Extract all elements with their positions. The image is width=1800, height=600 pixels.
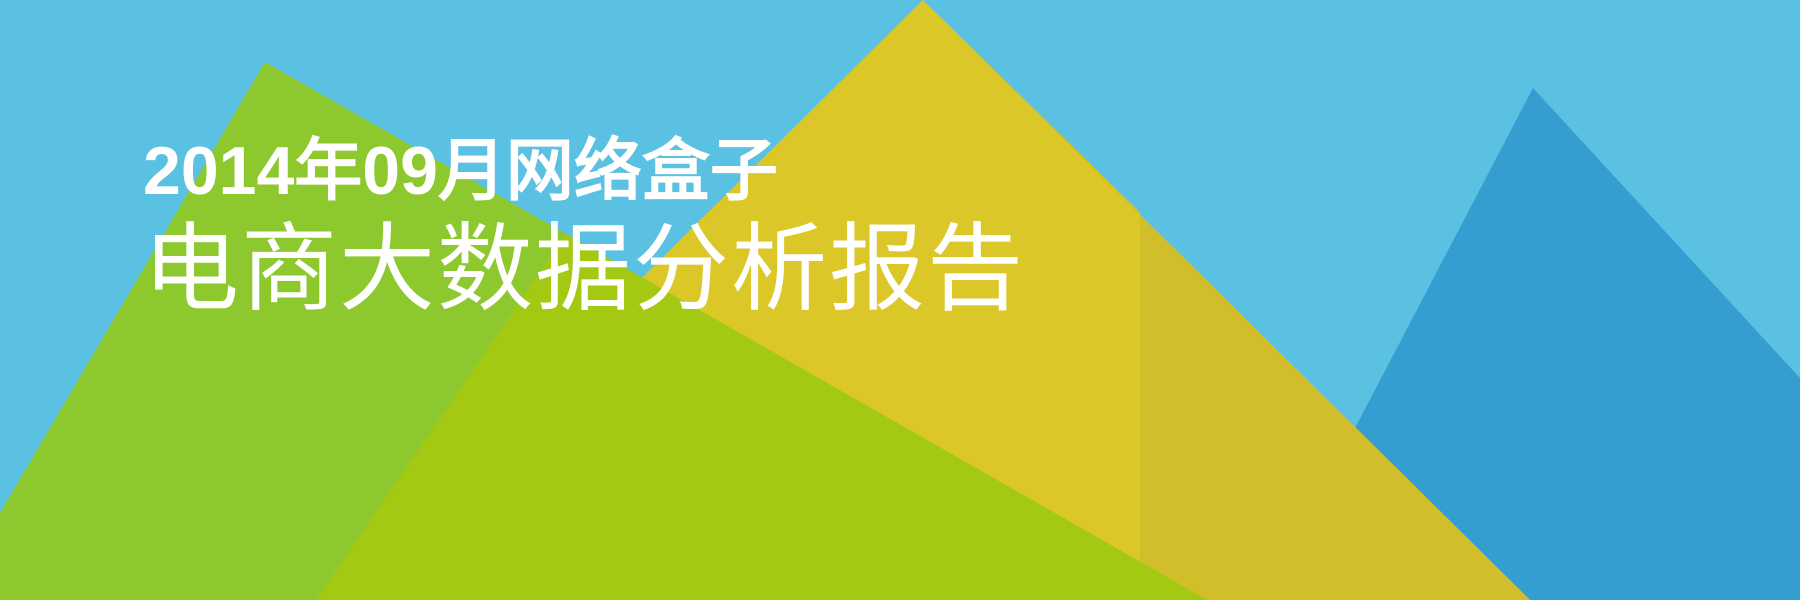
banner-title-line-2: 电商大数据分析报告	[143, 221, 1025, 319]
banner-title-block: 2014年09月网络盒子 电商大数据分析报告	[143, 136, 1025, 319]
report-cover-banner: 2014年09月网络盒子 电商大数据分析报告	[0, 0, 1800, 600]
banner-title-line-1: 2014年09月网络盒子	[143, 136, 1025, 207]
